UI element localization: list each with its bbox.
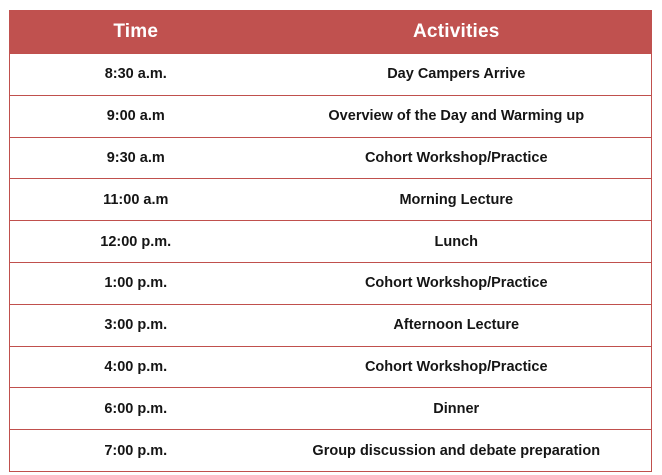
cell-time: 1:00 p.m.: [10, 262, 262, 304]
table-row: 3:00 p.m.Afternoon Lecture: [10, 304, 652, 346]
cell-activity: Cohort Workshop/Practice: [262, 346, 652, 388]
cell-time: 9:00 a.m: [10, 95, 262, 137]
cell-activity: Lunch: [262, 221, 652, 263]
table-row: 6:00 p.m.Dinner: [10, 388, 652, 430]
table-row: 7:00 p.m.Group discussion and debate pre…: [10, 430, 652, 472]
table-row: 1:00 p.m.Cohort Workshop/Practice: [10, 262, 652, 304]
cell-activity: Group discussion and debate preparation: [262, 430, 652, 472]
table-row: 9:00 a.mOverview of the Day and Warming …: [10, 95, 652, 137]
cell-time: 8:30 a.m.: [10, 54, 262, 96]
cell-activity: Morning Lecture: [262, 179, 652, 221]
table-body: 8:30 a.m.Day Campers Arrive9:00 a.mOverv…: [10, 54, 652, 472]
column-header-activities: Activities: [262, 10, 652, 54]
cell-time: 3:00 p.m.: [10, 304, 262, 346]
schedule-table-container: Time Activities 8:30 a.m.Day Campers Arr…: [9, 10, 651, 472]
table-header: Time Activities: [10, 10, 652, 54]
table-row: 12:00 p.m.Lunch: [10, 221, 652, 263]
cell-time: 9:30 a.m: [10, 137, 262, 179]
cell-time: 12:00 p.m.: [10, 221, 262, 263]
schedule-table: Time Activities 8:30 a.m.Day Campers Arr…: [9, 10, 652, 472]
cell-activity: Overview of the Day and Warming up: [262, 95, 652, 137]
table-row: 4:00 p.m.Cohort Workshop/Practice: [10, 346, 652, 388]
cell-activity: Day Campers Arrive: [262, 54, 652, 96]
table-row: 9:30 a.mCohort Workshop/Practice: [10, 137, 652, 179]
cell-time: 11:00 a.m: [10, 179, 262, 221]
cell-time: 6:00 p.m.: [10, 388, 262, 430]
cell-activity: Afternoon Lecture: [262, 304, 652, 346]
cell-time: 4:00 p.m.: [10, 346, 262, 388]
cell-activity: Cohort Workshop/Practice: [262, 262, 652, 304]
table-row: 11:00 a.mMorning Lecture: [10, 179, 652, 221]
cell-activity: Cohort Workshop/Practice: [262, 137, 652, 179]
cell-activity: Dinner: [262, 388, 652, 430]
column-header-time: Time: [10, 10, 262, 54]
cell-time: 7:00 p.m.: [10, 430, 262, 472]
header-row: Time Activities: [10, 10, 652, 54]
table-row: 8:30 a.m.Day Campers Arrive: [10, 54, 652, 96]
